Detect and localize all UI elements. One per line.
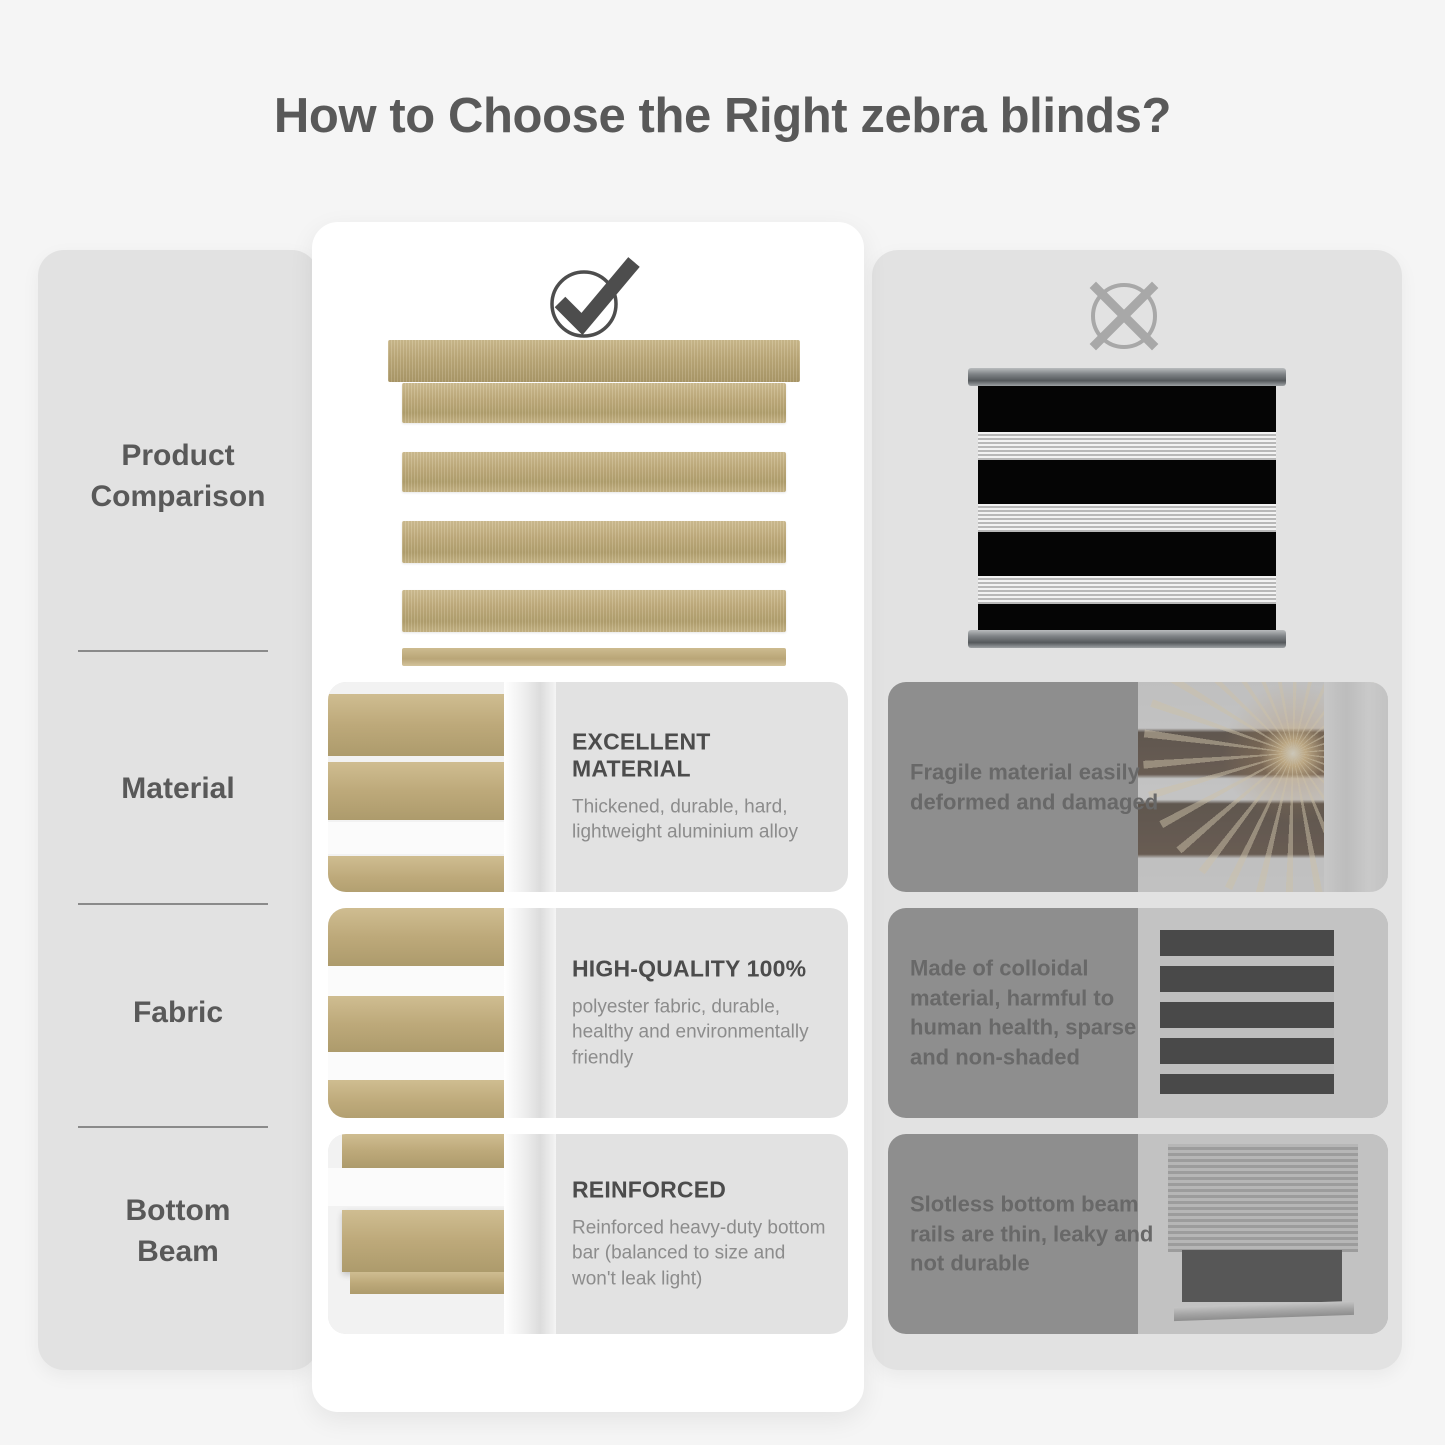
feature-text-bottom-beam: REINFORCED Reinforced heavy-duty bottom … (572, 1177, 834, 1292)
check-circle-icon (538, 252, 642, 344)
blind-sheer-band (978, 576, 1276, 604)
blind-slat (328, 908, 518, 966)
blind-slat (402, 590, 786, 632)
row-label-product-comparison-line1: Product (38, 435, 318, 476)
blind-bottom-rail (968, 630, 1286, 648)
negative-card-fabric: Made of colloidal material, harmful to h… (888, 908, 1388, 1118)
negative-photo-fabric (1138, 908, 1388, 1118)
row-divider-1 (78, 650, 268, 652)
row-divider-2 (78, 903, 268, 905)
gray-overlay (1138, 908, 1388, 1118)
blind-sheer-band (328, 822, 518, 854)
blind-headrail (388, 340, 800, 382)
gray-overlay (1138, 1134, 1388, 1334)
window-frame (504, 1134, 556, 1334)
feature-description-material: Thickened, durable, hard, lightweight al… (572, 795, 834, 846)
window-frame (504, 682, 556, 892)
feature-title-fabric: HIGH-QUALITY 100% (572, 956, 834, 983)
feature-description-fabric: polyester fabric, durable, healthy and e… (572, 995, 834, 1071)
blind-bottom-bar-edge (350, 1272, 518, 1294)
negative-photo-material (1138, 682, 1388, 892)
infographic-canvas: How to Choose the Right zebra blinds? Pr… (0, 0, 1445, 1445)
row-label-fabric: Fabric (38, 992, 318, 1033)
blind-fabric-body (978, 386, 1276, 630)
negative-text-bottom-beam: Slotless bottom beam rails are thin, lea… (910, 1189, 1160, 1278)
feature-photo-bottom-beam (328, 1134, 556, 1334)
feature-description-bottom-beam: Reinforced heavy-duty bottom bar (balanc… (572, 1216, 834, 1292)
row-label-product-comparison-line2: Comparison (38, 476, 318, 517)
feature-title-bottom-beam: REINFORCED (572, 1177, 834, 1204)
hero-image-beige-zebra-blind (388, 340, 800, 665)
feature-photo-fabric (328, 908, 556, 1118)
blind-slat (328, 1080, 518, 1118)
feature-card-fabric: HIGH-QUALITY 100% polyester fabric, dura… (328, 908, 848, 1118)
feature-title-material: EXCELLENT MATERIAL (572, 729, 834, 783)
row-label-bottom-beam-line2: Beam (38, 1231, 318, 1272)
hero-image-black-zebra-blind (968, 368, 1286, 648)
feature-card-material: EXCELLENT MATERIAL Thickened, durable, h… (328, 682, 848, 892)
blind-headrail (968, 368, 1286, 386)
feature-photo-material (328, 682, 556, 892)
blind-bottom-bar (402, 648, 786, 666)
negative-text-material: Fragile material easily deformed and dam… (910, 757, 1160, 816)
blind-sheer-band (978, 504, 1276, 532)
blind-slat (328, 996, 518, 1052)
blind-slat (402, 383, 786, 423)
cross-circle-icon (1080, 272, 1168, 360)
page-title: How to Choose the Right zebra blinds? (0, 88, 1445, 144)
row-label-bottom-beam: Bottom Beam (38, 1190, 318, 1272)
feature-card-bottom-beam: REINFORCED Reinforced heavy-duty bottom … (328, 1134, 848, 1334)
blind-bottom-bar (342, 1210, 518, 1272)
blind-slat (402, 452, 786, 492)
row-divider-3 (78, 1126, 268, 1128)
blind-sheer-band (328, 1168, 518, 1206)
blind-slat (342, 1134, 518, 1168)
window-frame (504, 908, 556, 1118)
row-label-product-comparison: Product Comparison (38, 435, 318, 517)
blind-sheer-band (328, 966, 518, 996)
negative-photo-bottom-beam (1138, 1134, 1388, 1334)
negative-card-material: Fragile material easily deformed and dam… (888, 682, 1388, 892)
negative-card-bottom-beam: Slotless bottom beam rails are thin, lea… (888, 1134, 1388, 1334)
feature-text-fabric: HIGH-QUALITY 100% polyester fabric, dura… (572, 956, 834, 1071)
row-label-bottom-beam-line1: Bottom (38, 1190, 318, 1231)
blind-slat (402, 521, 786, 563)
feature-text-material: EXCELLENT MATERIAL Thickened, durable, h… (572, 729, 834, 846)
negative-text-fabric: Made of colloidal material, harmful to h… (910, 954, 1160, 1073)
blind-slat (328, 856, 518, 892)
blind-slat (328, 694, 518, 756)
blind-sheer-band (978, 432, 1276, 460)
blind-sheer-band (328, 1052, 518, 1080)
row-label-material: Material (38, 768, 318, 809)
blind-slat (328, 762, 518, 820)
gray-overlay (1138, 682, 1388, 892)
